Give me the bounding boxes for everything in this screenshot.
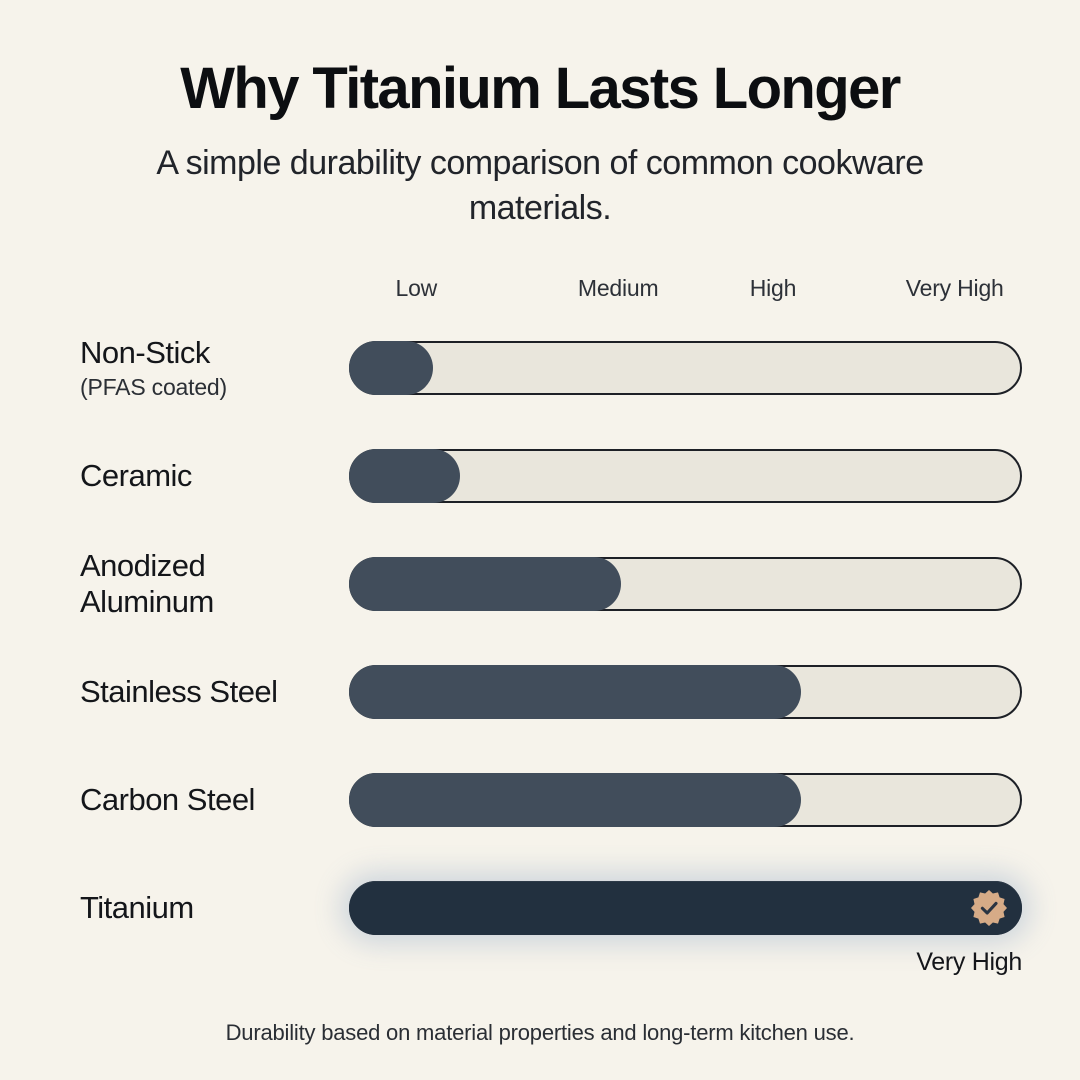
axis-tick-container: LowMediumHighVery High [349, 268, 1022, 302]
bar-row: Anodized Aluminum [80, 530, 1022, 638]
footer-note: Durability based on material properties … [0, 1020, 1080, 1080]
bar-row-label: Non-Stick(PFAS coated) [80, 335, 349, 401]
bar-fill [349, 773, 801, 827]
bar-container [349, 638, 1022, 746]
material-sublabel: (PFAS coated) [80, 373, 331, 401]
bar-fill [349, 665, 801, 719]
axis-tick-very-high: Very High [906, 275, 1004, 302]
page-title: Why Titanium Lasts Longer [70, 58, 1010, 119]
bar-fill [349, 881, 1022, 935]
bar-row-label: Carbon Steel [80, 782, 349, 818]
material-name: Titanium [80, 890, 194, 925]
page-subtitle: A simple durability comparison of common… [125, 141, 955, 229]
featured-rating-caption: Very High [916, 948, 1022, 977]
check-seal-icon [970, 889, 1008, 927]
bar-track [349, 449, 1022, 503]
bar-row: TitaniumVery High [80, 854, 1022, 962]
bar-container [349, 530, 1022, 638]
header: Why Titanium Lasts Longer A simple durab… [0, 0, 1080, 230]
infographic-page: Why Titanium Lasts Longer A simple durab… [0, 0, 1080, 1080]
durability-chart: LowMediumHighVery High Non-Stick(PFAS co… [0, 268, 1080, 1014]
bar-row: Stainless Steel [80, 638, 1022, 746]
bar-container [349, 422, 1022, 530]
bar-row-label: Titanium [80, 890, 349, 926]
material-name: Ceramic [80, 458, 192, 493]
bar-track [349, 881, 1022, 935]
bar-container: Very High [349, 854, 1022, 962]
bar-rows: Non-Stick(PFAS coated)CeramicAnodized Al… [80, 314, 1022, 962]
bar-container [349, 746, 1022, 854]
bar-fill [349, 449, 460, 503]
material-name: Anodized Aluminum [80, 548, 214, 619]
bar-row: Ceramic [80, 422, 1022, 530]
bar-row-label: Anodized Aluminum [80, 548, 349, 620]
bar-track [349, 665, 1022, 719]
material-name: Non-Stick [80, 335, 210, 370]
bar-fill [349, 341, 433, 395]
scale-axis: LowMediumHighVery High [80, 268, 1022, 302]
bar-fill [349, 557, 621, 611]
axis-tick-medium: Medium [578, 275, 659, 302]
bar-row-label: Stainless Steel [80, 674, 349, 710]
bar-container [349, 314, 1022, 422]
axis-tick-low: Low [396, 275, 438, 302]
bar-track [349, 341, 1022, 395]
bar-track [349, 557, 1022, 611]
bar-row-label: Ceramic [80, 458, 349, 494]
material-name: Stainless Steel [80, 674, 278, 709]
bar-row: Non-Stick(PFAS coated) [80, 314, 1022, 422]
bar-track [349, 773, 1022, 827]
material-name: Carbon Steel [80, 782, 255, 817]
bar-row: Carbon Steel [80, 746, 1022, 854]
axis-tick-high: High [750, 275, 797, 302]
